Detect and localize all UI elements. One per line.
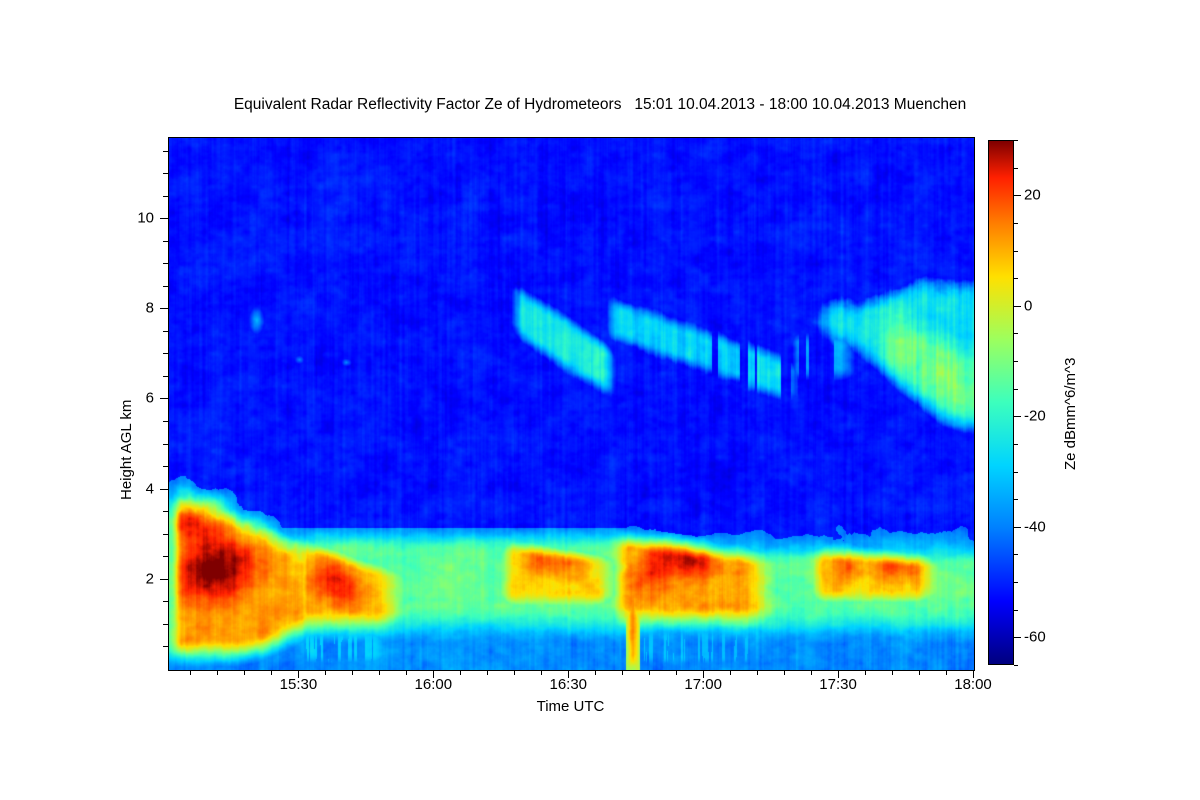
x-tick-minor <box>460 670 461 675</box>
y-tick-minor <box>163 173 168 174</box>
colorbar-tick-major <box>1014 637 1021 638</box>
x-tick-label: 16:30 <box>549 676 587 693</box>
x-tick-minor <box>352 670 353 675</box>
x-tick-minor <box>649 670 650 675</box>
x-tick-minor <box>217 670 218 675</box>
y-tick-minor <box>163 421 168 422</box>
y-tick-label: 8 <box>146 300 154 317</box>
y-tick-minor <box>163 331 168 332</box>
x-tick-minor <box>190 670 191 675</box>
y-axis-label: Height AGL km <box>118 300 135 500</box>
colorbar-tick-minor <box>1014 499 1018 500</box>
colorbar-tick-major <box>1014 527 1021 528</box>
x-tick-minor <box>325 670 326 675</box>
colorbar-tick-label: 0 <box>1024 297 1032 314</box>
colorbar-tick-minor <box>1014 140 1018 141</box>
x-tick-minor <box>622 670 623 675</box>
x-tick-label: 18:00 <box>954 676 992 693</box>
x-tick-minor <box>676 670 677 675</box>
y-tick-minor <box>163 376 168 377</box>
x-tick-minor <box>595 670 596 675</box>
x-tick-minor <box>784 670 785 675</box>
y-tick-minor <box>163 556 168 557</box>
x-tick-minor <box>487 670 488 675</box>
colorbar-tick-major <box>1014 195 1021 196</box>
y-tick-minor <box>163 151 168 152</box>
y-tick-minor <box>163 353 168 354</box>
y-tick-minor <box>163 444 168 445</box>
x-axis-label: Time UTC <box>168 698 973 715</box>
y-tick-minor <box>163 534 168 535</box>
colorbar-tick-major <box>1014 306 1021 307</box>
x-tick-label: 17:30 <box>819 676 857 693</box>
x-tick-minor <box>865 670 866 675</box>
colorbar <box>988 140 1014 665</box>
colorbar-gradient <box>988 140 1014 665</box>
colorbar-label: Ze dBmm^6/m^3 <box>1062 358 1079 470</box>
reflectivity-heatmap-canvas <box>169 138 974 670</box>
x-tick-minor <box>730 670 731 675</box>
y-tick-label: 6 <box>146 390 154 407</box>
y-tick-minor <box>163 241 168 242</box>
y-tick-minor <box>163 601 168 602</box>
colorbar-tick-minor <box>1014 168 1018 169</box>
x-tick-minor <box>379 670 380 675</box>
x-tick-minor <box>244 670 245 675</box>
y-tick-major <box>160 579 168 580</box>
x-tick-minor <box>541 670 542 675</box>
colorbar-tick-minor <box>1014 223 1018 224</box>
y-tick-major <box>160 308 168 309</box>
y-tick-minor <box>163 286 168 287</box>
colorbar-tick-major <box>1014 416 1021 417</box>
plot-area <box>168 137 975 671</box>
y-tick-label: 10 <box>137 210 154 227</box>
colorbar-tick-label: -60 <box>1024 629 1046 646</box>
colorbar-tick-minor <box>1014 251 1018 252</box>
radar-reflectivity-figure: Equivalent Radar Reflectivity Factor Ze … <box>0 0 1200 800</box>
colorbar-tick-minor <box>1014 610 1018 611</box>
y-tick-label: 4 <box>146 480 154 497</box>
x-tick-minor <box>919 670 920 675</box>
colorbar-tick-minor <box>1014 444 1018 445</box>
colorbar-tick-minor <box>1014 554 1018 555</box>
x-tick-minor <box>406 670 407 675</box>
y-tick-minor <box>163 511 168 512</box>
x-tick-label: 17:00 <box>684 676 722 693</box>
x-tick-minor <box>892 670 893 675</box>
colorbar-tick-minor <box>1014 665 1018 666</box>
x-tick-minor <box>946 670 947 675</box>
y-tick-major <box>160 218 168 219</box>
y-tick-major <box>160 398 168 399</box>
x-tick-minor <box>811 670 812 675</box>
y-tick-minor <box>163 646 168 647</box>
x-tick-minor <box>271 670 272 675</box>
x-tick-minor <box>757 670 758 675</box>
colorbar-tick-label: -20 <box>1024 408 1046 425</box>
y-tick-minor <box>163 466 168 467</box>
y-tick-minor <box>163 196 168 197</box>
colorbar-tick-minor <box>1014 361 1018 362</box>
y-tick-major <box>160 489 168 490</box>
colorbar-tick-label: 20 <box>1024 187 1041 204</box>
y-tick-minor <box>163 624 168 625</box>
colorbar-tick-minor <box>1014 389 1018 390</box>
colorbar-tick-minor <box>1014 582 1018 583</box>
x-tick-label: 16:00 <box>415 676 453 693</box>
colorbar-tick-label: -40 <box>1024 518 1046 535</box>
page-title: Equivalent Radar Reflectivity Factor Ze … <box>0 96 1200 114</box>
colorbar-tick-minor <box>1014 278 1018 279</box>
x-tick-minor <box>514 670 515 675</box>
x-tick-label: 15:30 <box>280 676 318 693</box>
colorbar-tick-minor <box>1014 333 1018 334</box>
colorbar-tick-minor <box>1014 472 1018 473</box>
y-tick-label: 2 <box>146 570 154 587</box>
y-tick-minor <box>163 263 168 264</box>
